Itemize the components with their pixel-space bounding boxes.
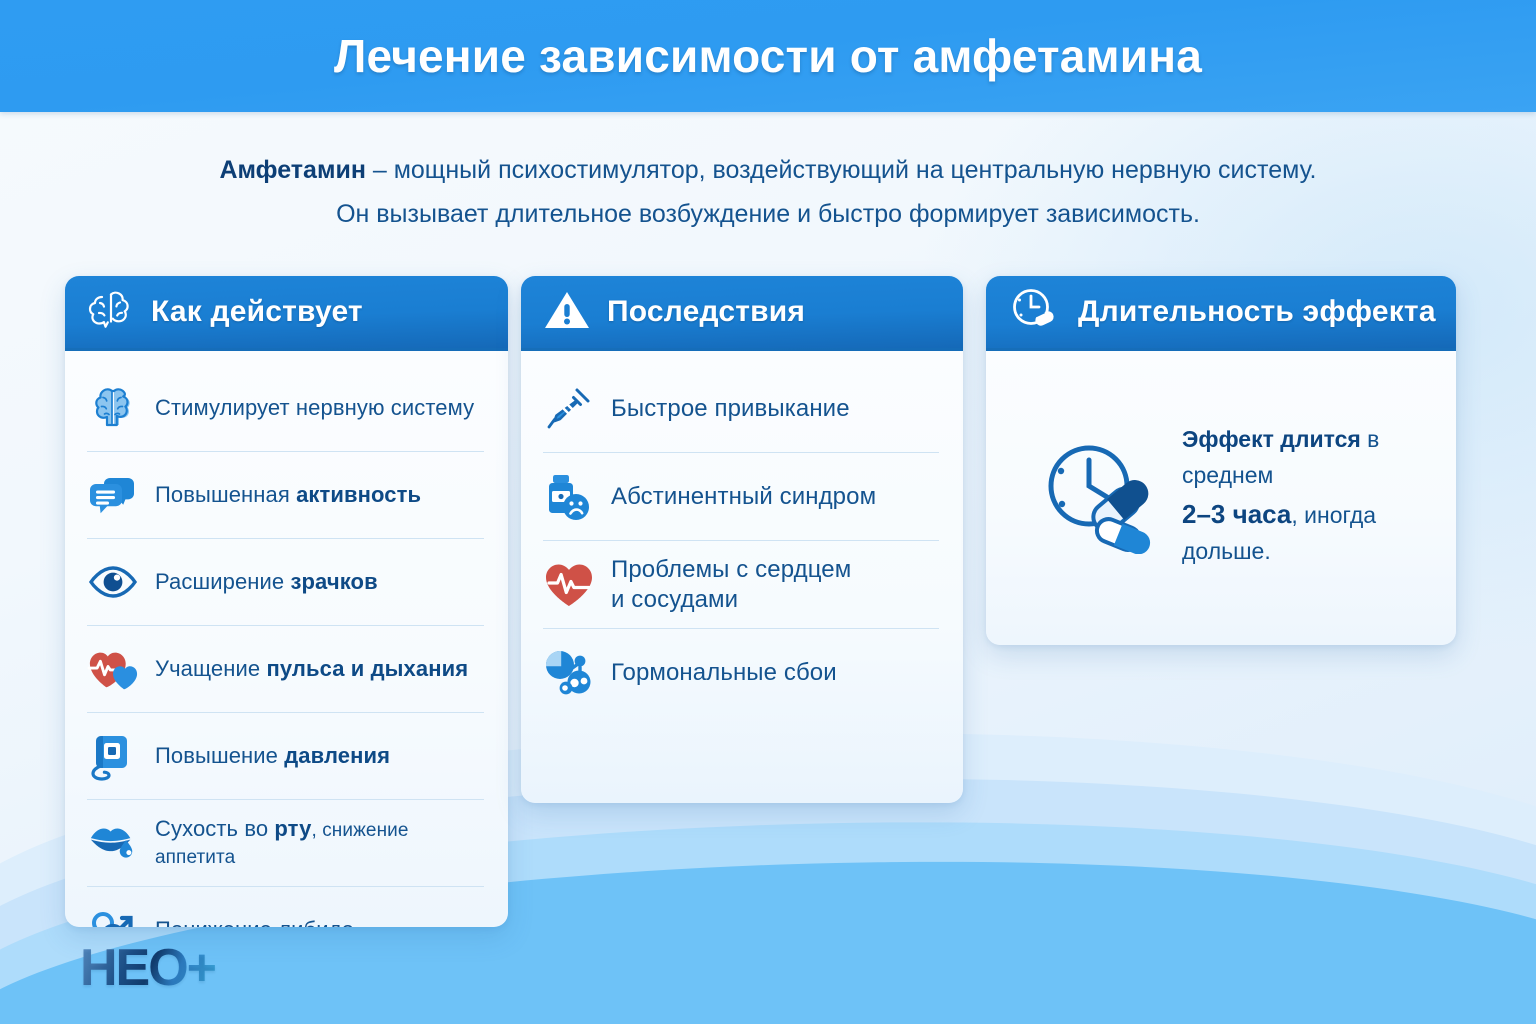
- card-effect-duration-title: Длительность эффекта: [1078, 295, 1436, 329]
- intro-line-2: Он вызывает длительное возбуждение и быс…: [0, 192, 1536, 236]
- list-item-label: Абстинентный синдром: [611, 482, 876, 511]
- list-item-label: Расширение зрачков: [155, 569, 378, 596]
- page-title: Лечение зависимости от амфетамина: [334, 29, 1202, 83]
- duration-text: Эффект длится в среднем 2–3 часа, иногда…: [1182, 422, 1432, 569]
- list-item-label: Быстрое привыкание: [611, 394, 850, 423]
- card-consequences-body: Быстрое привыкание Абстинентный с: [521, 351, 963, 803]
- card-consequences: Последствия Быстрое привык: [521, 276, 963, 803]
- card-effect-duration: Длительность эффекта: [986, 276, 1456, 645]
- card-how-it-works-body: Стимулирует нервную систему Повышенная а: [65, 351, 508, 927]
- list-item-label: Повышение давления: [155, 743, 390, 770]
- list-item-label: Гормональные сбои: [611, 658, 837, 687]
- list-item-label: Проблемы с сердцем и сосудами: [611, 555, 851, 614]
- duration-panel: Эффект длится в среднем 2–3 часа, иногда…: [1008, 365, 1432, 627]
- intro-line-1-rest: – мощный психостимулятор, воздействующий…: [366, 156, 1317, 184]
- card-how-it-works-title: Как действует: [151, 295, 363, 329]
- gender-symbols-icon: [87, 904, 139, 927]
- speech-bubble-icon: [87, 469, 139, 521]
- list-item: Расширение зрачков: [87, 539, 484, 626]
- card-how-it-works: Как действует: [65, 276, 508, 927]
- card-effect-duration-body: Эффект длится в среднем 2–3 часа, иногда…: [986, 351, 1456, 645]
- hormone-molecule-icon: [543, 647, 595, 699]
- brain-outline-icon: [87, 288, 135, 337]
- clock-pills-icon: [1008, 286, 1062, 339]
- card-how-it-works-header: Как действует: [65, 276, 508, 351]
- list-item-label: Стимулирует нервную систему: [155, 395, 474, 422]
- card-effect-duration-header: Длительность эффекта: [986, 276, 1456, 351]
- page-header: Лечение зависимости от амфетамина: [0, 0, 1536, 112]
- card-consequences-header: Последствия: [521, 276, 963, 351]
- duration-line2-bold: 2–3 часа: [1182, 499, 1291, 529]
- heart-pulse-icon: [543, 559, 595, 611]
- list-item-label: Учащение пульса и дыхания: [155, 656, 468, 683]
- intro-block: Амфетамин – мощный психостимулятор, возд…: [0, 148, 1536, 236]
- clock-pills-large-icon: [1034, 438, 1160, 554]
- list-item: Сухость во рту, снижение аппетита: [87, 800, 484, 887]
- brain-icon: [87, 382, 139, 434]
- intro-keyword: Амфетамин: [219, 156, 365, 184]
- intro-line-1: Амфетамин – мощный психостимулятор, возд…: [0, 148, 1536, 192]
- infographic-canvas: Лечение зависимости от амфетамина Амфета…: [0, 0, 1536, 1024]
- eye-icon: [87, 556, 139, 608]
- list-item: Проблемы с сердцем и сосудами: [543, 541, 939, 629]
- list-item: Повышенная активность: [87, 452, 484, 539]
- duration-line1-bold: Эффект длится: [1182, 426, 1361, 452]
- card-consequences-title: Последствия: [607, 295, 805, 329]
- warning-triangle-icon: [543, 288, 591, 337]
- list-item: Понижение либидо: [87, 887, 484, 927]
- list-item-label: Сухость во рту, снижение аппетита: [155, 816, 484, 870]
- list-item: Стимулирует нервную систему: [87, 365, 484, 452]
- brand-logo: НЕО+: [80, 942, 215, 994]
- syringe-icon: [543, 383, 595, 435]
- blood-pressure-monitor-icon: [87, 730, 139, 782]
- list-item: Учащение пульса и дыхания: [87, 626, 484, 713]
- lips-drop-icon: [87, 817, 139, 869]
- list-item-label: Понижение либидо: [155, 917, 354, 927]
- list-item: Абстинентный синдром: [543, 453, 939, 541]
- list-item: Повышение давления: [87, 713, 484, 800]
- list-item: Быстрое привыкание: [543, 365, 939, 453]
- list-item: Гормональные сбои: [543, 629, 939, 716]
- pill-bottle-sad-face-icon: [543, 471, 595, 523]
- hearts-pulse-icon: [87, 643, 139, 695]
- list-item-label: Повышенная активность: [155, 482, 421, 509]
